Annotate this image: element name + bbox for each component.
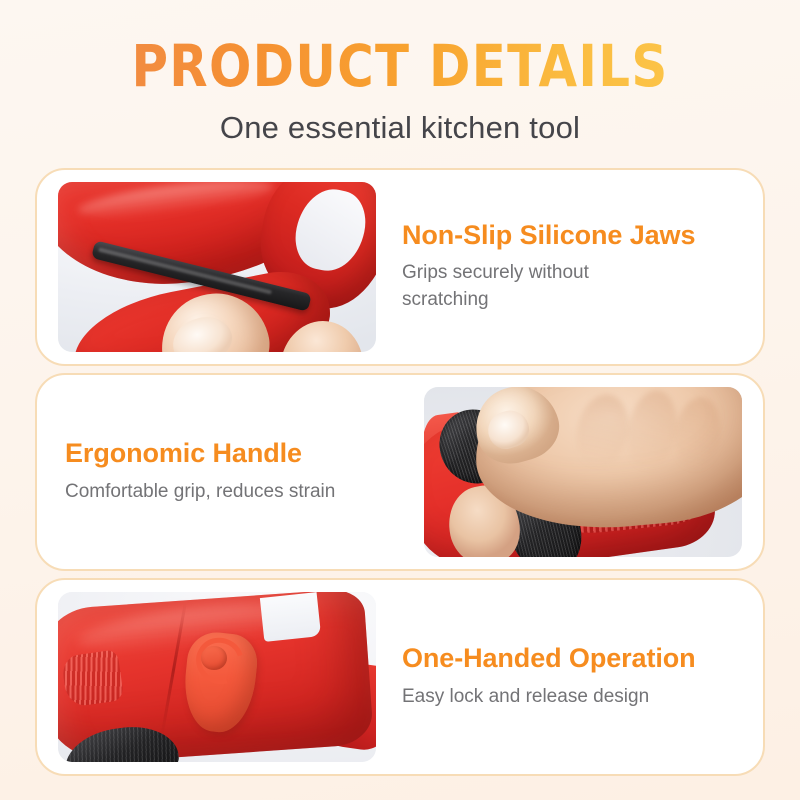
feature-copy: Ergonomic Handle Comfortable grip, reduc…: [37, 438, 414, 505]
tool-grooves-texture: [61, 649, 125, 707]
product-photo-jaws: [58, 182, 376, 352]
product-photo-lock-lever: [58, 592, 376, 762]
feature-title: Ergonomic Handle: [65, 438, 398, 469]
feature-copy: Non-Slip Silicone Jaws Grips securely wi…: [386, 220, 763, 314]
feature-card-non-slip-silicone-jaws: Non-Slip Silicone Jaws Grips securely wi…: [35, 168, 765, 366]
feature-title: Non-Slip Silicone Jaws: [402, 220, 747, 251]
lock-lever-pivot: [201, 646, 226, 670]
feature-copy: One-Handed Operation Easy lock and relea…: [386, 643, 763, 710]
page-title: PRODUCT DETAILS: [56, 0, 744, 96]
feature-card-one-handed-operation: One-Handed Operation Easy lock and relea…: [35, 578, 765, 776]
page-header: PRODUCT DETAILS One essential kitchen to…: [0, 0, 800, 146]
page-subtitle: One essential kitchen tool: [0, 96, 800, 146]
feature-title: One-Handed Operation: [402, 643, 747, 674]
feature-description: Easy lock and release design: [402, 675, 662, 711]
feature-description: Grips securely without scratching: [402, 251, 662, 314]
feature-card-ergonomic-handle: Ergonomic Handle Comfortable grip, reduc…: [35, 373, 765, 571]
product-photo-handle: [424, 387, 742, 557]
product-details-page: PRODUCT DETAILS One essential kitchen to…: [0, 0, 800, 800]
tool-notch: [259, 593, 321, 643]
feature-description: Comfortable grip, reduces strain: [65, 470, 345, 506]
